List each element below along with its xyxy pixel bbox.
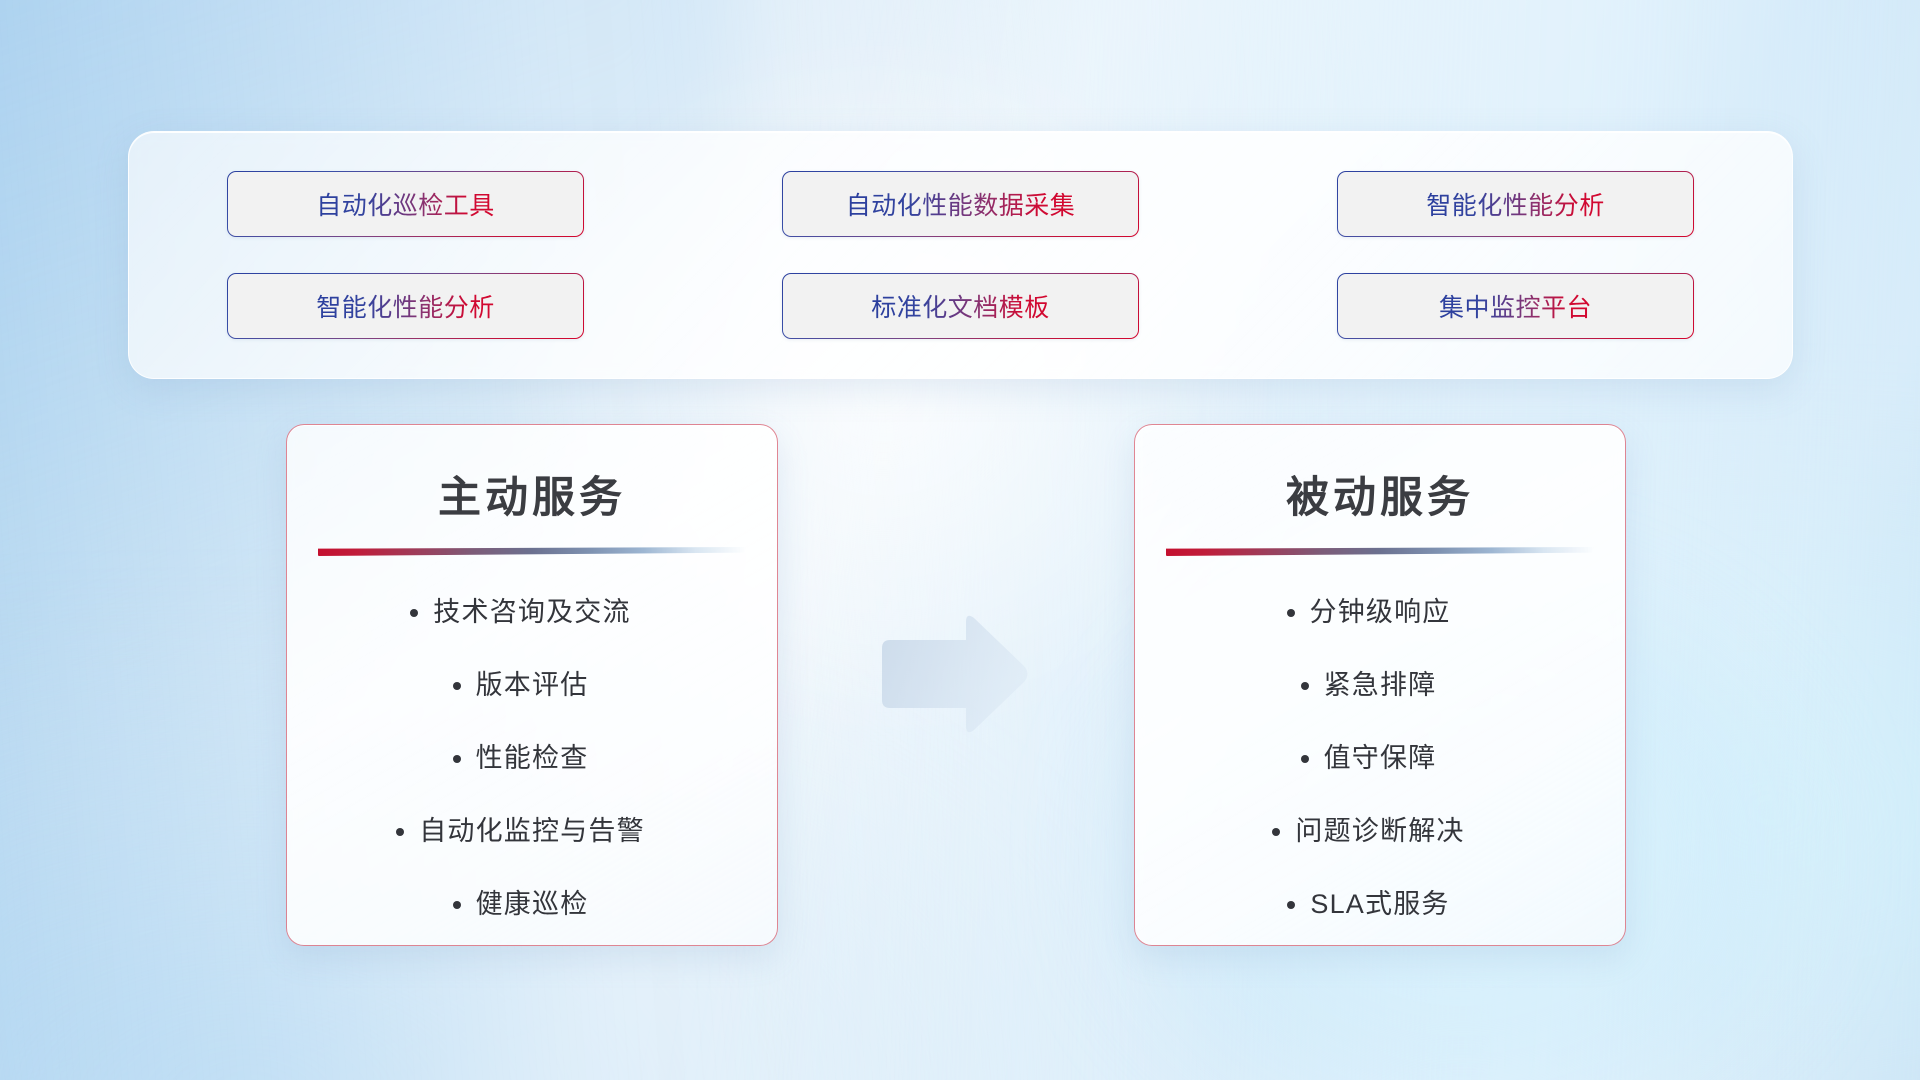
service-list-item: 健康巡检 (476, 882, 589, 921)
service-item-list: 分钟级响应 紧急排障 值守保障 问题诊断解决 SLA式服务 (1135, 590, 1625, 921)
service-list-item: 分钟级响应 (1310, 590, 1451, 629)
service-list-item: SLA式服务 (1310, 882, 1449, 921)
service-list-item: 紧急排障 (1324, 663, 1437, 702)
service-list-item: 自动化监控与告警 (419, 809, 645, 848)
capability-chips-panel: 自动化巡检工具 自动化性能数据采集 智能化性能分析 智能化性能分析 标准化文档模… (128, 131, 1793, 379)
capability-chip-row-1: 自动化巡检工具 自动化性能数据采集 智能化性能分析 (227, 171, 1694, 237)
service-card-active: 主动服务 技术咨询及交流 版本评估 性能检查 自动化监控与告警 健康巡检 (286, 424, 778, 946)
arrow-right-icon (872, 610, 1032, 738)
service-list-item: 值守保障 (1324, 736, 1437, 775)
capability-chip-intelligent-perf-analysis[interactable]: 智能化性能分析 (1337, 171, 1694, 237)
capability-chip-intelligent-perf-analysis-2[interactable]: 智能化性能分析 (227, 273, 584, 339)
capability-chip-label: 智能化性能分析 (316, 288, 495, 324)
capability-chip-label: 标准化文档模板 (871, 288, 1050, 324)
service-card-passive: 被动服务 分钟级响应 紧急排障 值守保障 问题诊断解决 SLA式服务 (1134, 424, 1626, 946)
service-card-title: 被动服务 (1286, 463, 1474, 525)
capability-chip-standard-doc-template[interactable]: 标准化文档模板 (782, 273, 1139, 339)
capability-chip-label: 智能化性能分析 (1426, 186, 1605, 222)
capability-chip-label: 自动化巡检工具 (316, 186, 495, 222)
capability-chip-row-2: 智能化性能分析 标准化文档模板 集中监控平台 (227, 273, 1694, 339)
service-card-title: 主动服务 (438, 463, 626, 525)
service-list-item: 性能检查 (476, 736, 589, 775)
title-gradient-divider (318, 547, 746, 556)
service-item-list: 技术咨询及交流 版本评估 性能检查 自动化监控与告警 健康巡检 (287, 590, 777, 921)
title-gradient-divider (1166, 547, 1594, 556)
service-list-item: 问题诊断解决 (1295, 809, 1464, 848)
capability-chip-auto-inspection-tool[interactable]: 自动化巡检工具 (227, 171, 584, 237)
capability-chip-label: 自动化性能数据采集 (846, 186, 1076, 222)
capability-chip-central-monitoring-platform[interactable]: 集中监控平台 (1337, 273, 1694, 339)
capability-chip-auto-perf-data-collection[interactable]: 自动化性能数据采集 (782, 171, 1139, 237)
slide-content: 自动化巡检工具 自动化性能数据采集 智能化性能分析 智能化性能分析 标准化文档模… (0, 0, 1920, 1080)
capability-chip-label: 集中监控平台 (1439, 288, 1592, 324)
service-list-item: 技术咨询及交流 (433, 590, 630, 629)
service-list-item: 版本评估 (476, 663, 589, 702)
